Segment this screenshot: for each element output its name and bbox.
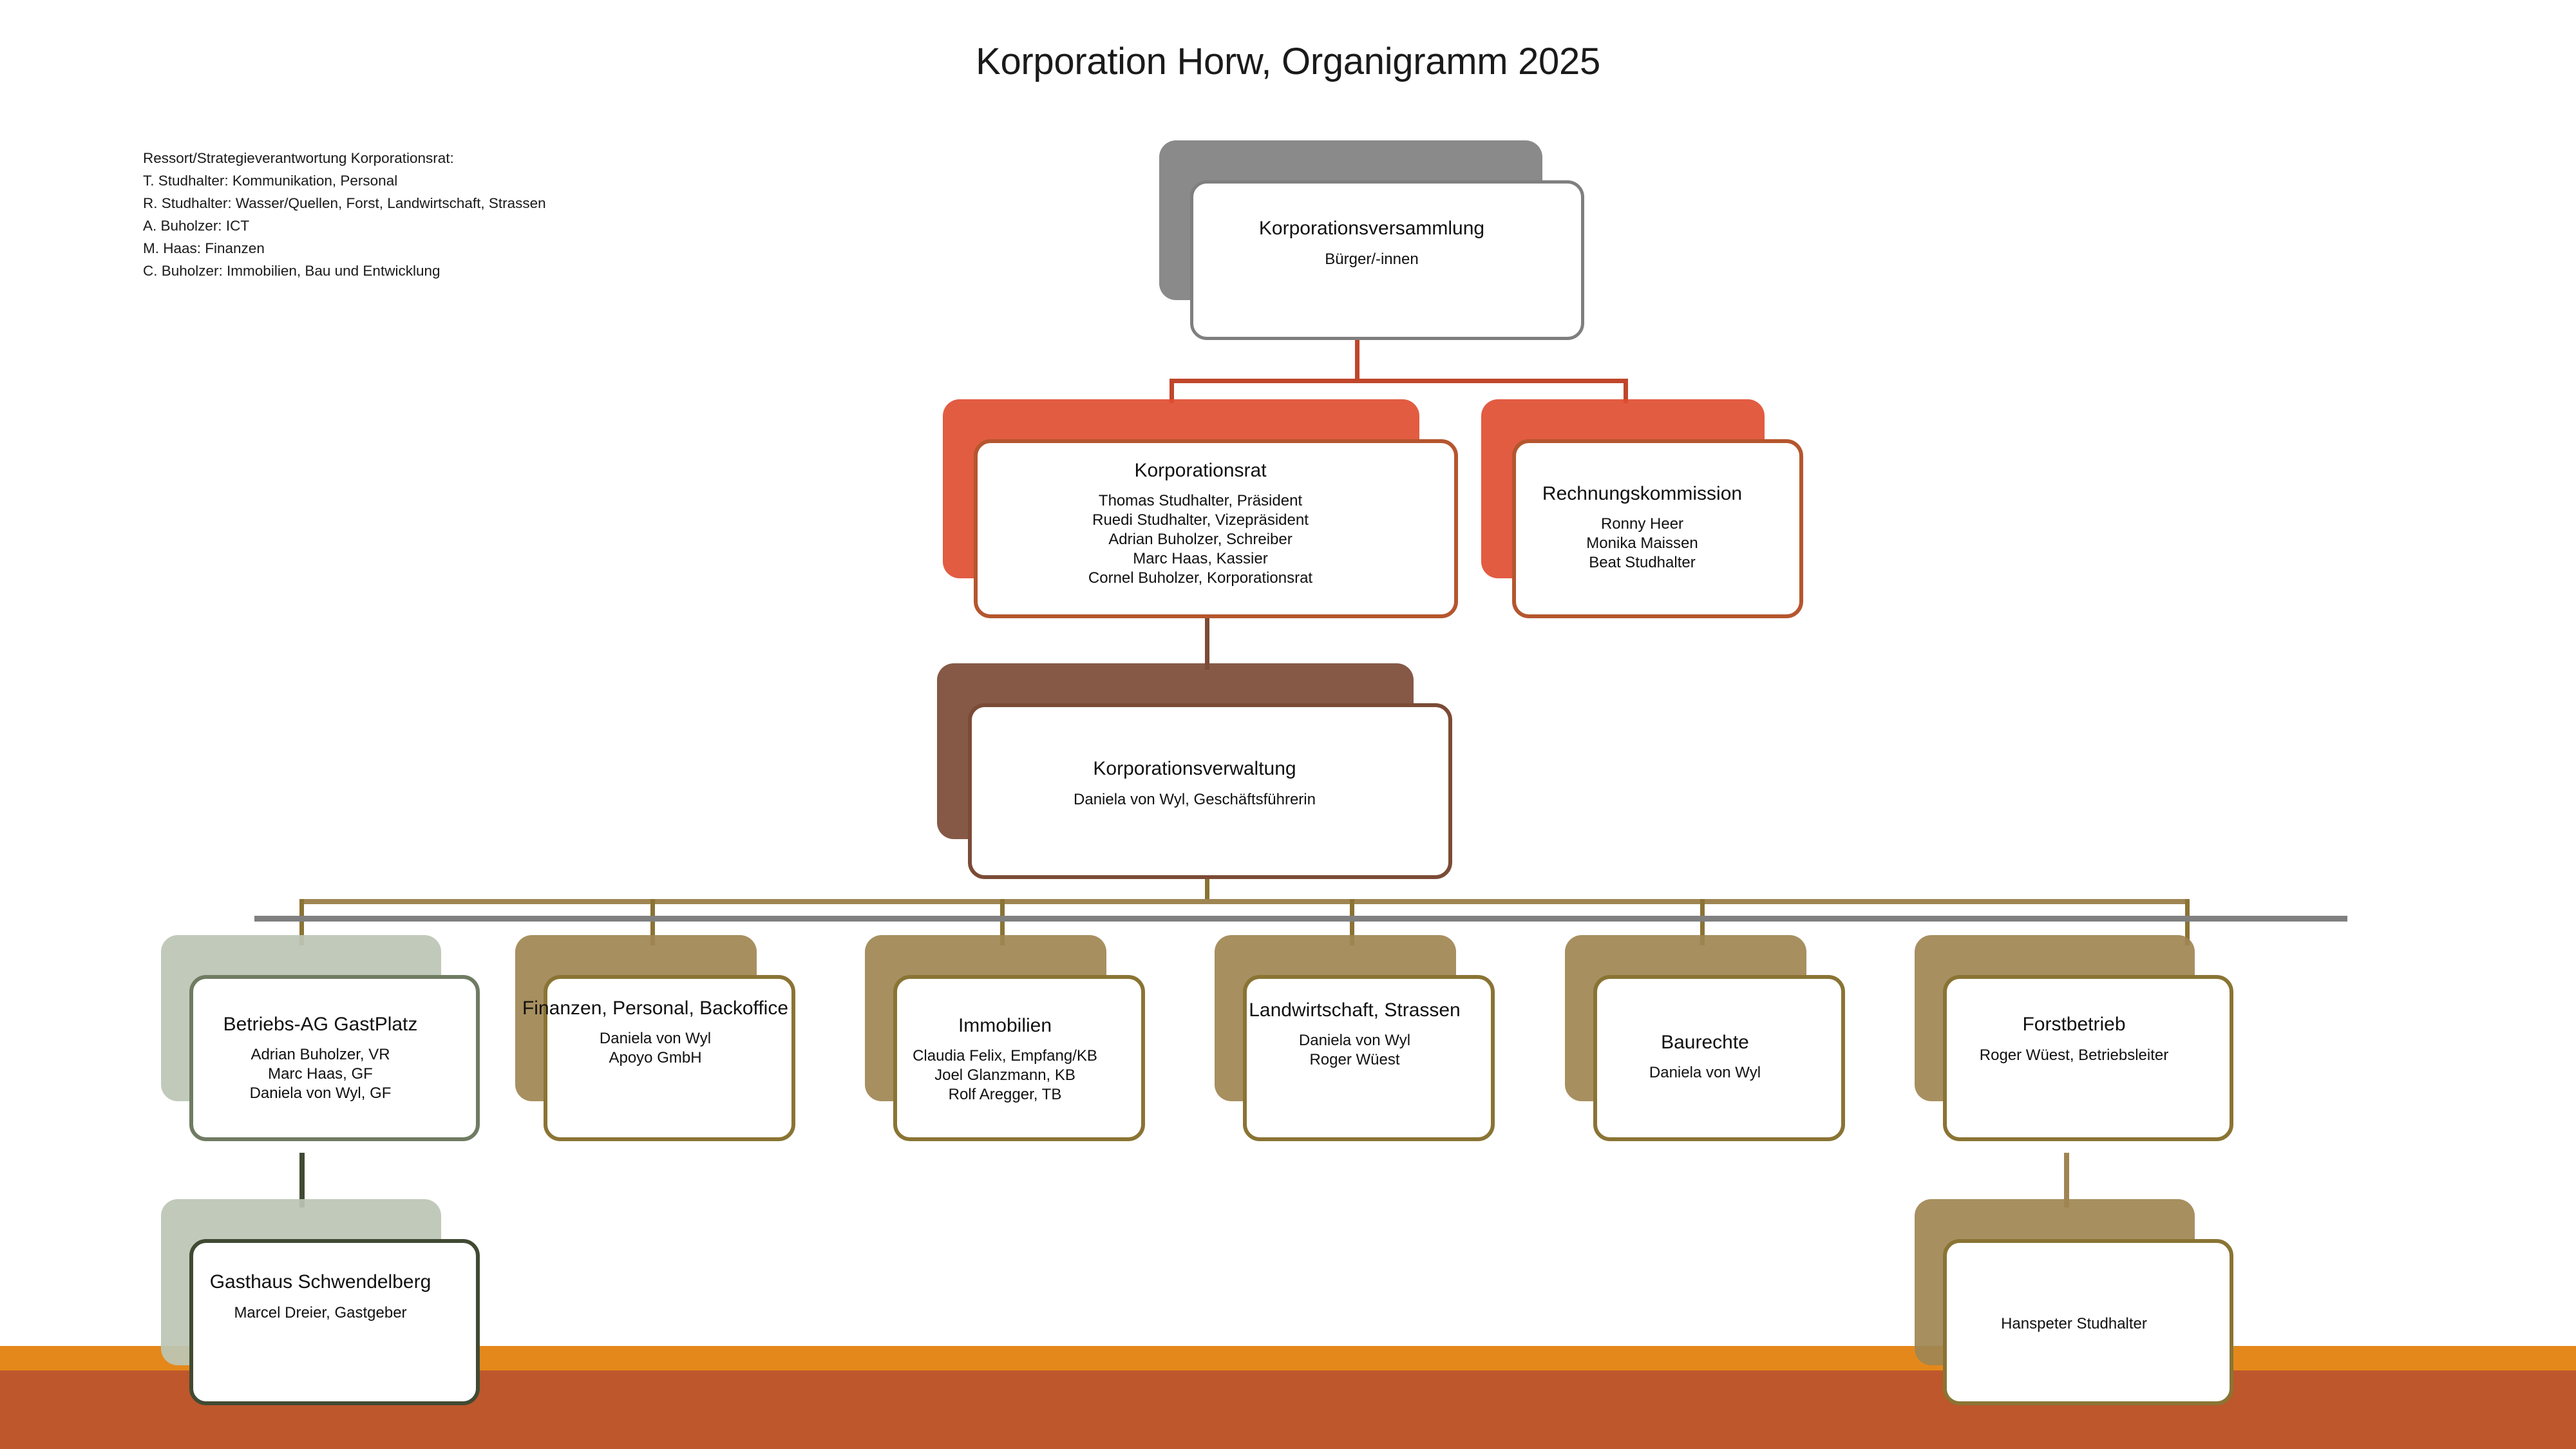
legend-line: A. Buholzer: ICT [143,214,546,237]
node-front-card [1943,1239,2233,1405]
node-front-card [544,975,795,1141]
connector-rat-to-verwaltung [1205,612,1209,670]
node-korporationsverwaltung[interactable]: Korporationsverwaltung Daniela von Wyl, … [937,663,1452,879]
node-front-card [1943,975,2233,1141]
connector-bus-level2 [1170,379,1628,383]
node-front-card [1593,975,1845,1141]
connector-bus-departments [299,899,2190,904]
legend-line: R. Studhalter: Wasser/Quellen, Forst, La… [143,192,546,214]
node-korporationsversammlung[interactable]: Korporationsversammlung Bürger/-innen [1159,140,1584,340]
node-baurechte[interactable]: Baurechte Daniela von Wyl [1565,935,1845,1141]
legend-line: C. Buholzer: Immobilien, Bau und Entwick… [143,260,546,282]
node-gasthaus-schwendelberg[interactable]: Gasthaus Schwendelberg Marcel Dreier, Ga… [161,1199,480,1405]
legend-line: M. Haas: Finanzen [143,237,546,260]
node-front-card [893,975,1145,1141]
node-finanzen-personal-backoffice[interactable]: Finanzen, Personal, Backoffice Daniela v… [515,935,795,1141]
node-front-card [189,1239,480,1405]
page-title: Korporation Horw, Organigramm 2025 [0,40,2576,83]
node-immobilien[interactable]: Immobilien Claudia Felix, Empfang/KB Joe… [865,935,1145,1141]
organigram-canvas: Korporation Horw, Organigramm 2025 Resso… [0,0,2576,1449]
node-forstbetrieb[interactable]: Forstbetrieb Roger Wüest, Betriebsleiter [1915,935,2233,1141]
node-korporationsrat[interactable]: Korporationsrat Thomas Studhalter, Präsi… [943,399,1458,618]
legend: Ressort/Strategieverantwortung Korporati… [143,147,546,282]
node-front-card [189,975,480,1141]
node-landwirtschaft-strassen[interactable]: Landwirtschaft, Strassen Daniela von Wyl… [1215,935,1495,1141]
node-front-card [968,703,1452,879]
node-front-card [1512,439,1803,618]
legend-line: T. Studhalter: Kommunikation, Personal [143,169,546,192]
node-forstbetrieb-mitarbeiter[interactable]: Hanspeter Studhalter [1915,1199,2233,1405]
node-front-card [1190,180,1584,340]
node-rechnungskommission[interactable]: Rechnungskommission Ronny Heer Monika Ma… [1481,399,1803,618]
legend-heading: Ressort/Strategieverantwortung Korporati… [143,147,546,169]
connector-versammlung-down [1355,335,1359,383]
node-front-card [1243,975,1495,1141]
horizontal-rule [254,916,2347,922]
node-front-card [974,439,1458,618]
node-betriebs-ag-gastplatz[interactable]: Betriebs-AG GastPlatz Adrian Buholzer, V… [161,935,480,1141]
